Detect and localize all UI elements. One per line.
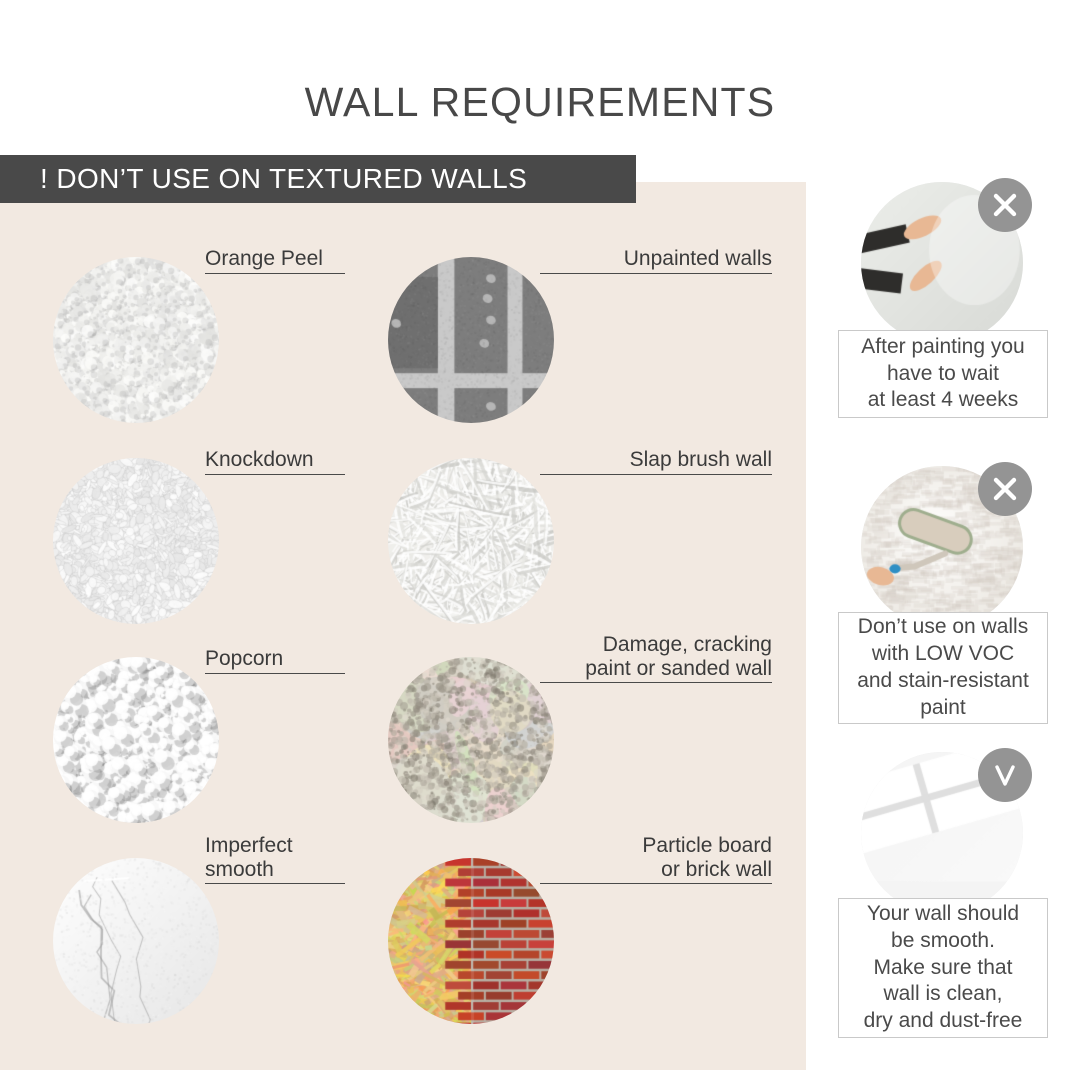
side-card-caption-box-wait-4-weeks: After painting you have to wait at least… — [838, 330, 1048, 418]
cross-icon — [978, 462, 1032, 516]
texture-label-slap-brush: Slap brush wall — [540, 448, 772, 475]
side-card-caption-smooth-wall: Your wall should be smooth. Make sure th… — [858, 901, 1029, 1035]
texture-label-knockdown: Knockdown — [205, 448, 345, 475]
cross-icon — [978, 178, 1032, 232]
side-card-caption-box-smooth-wall: Your wall should be smooth. Make sure th… — [838, 898, 1048, 1038]
texture-label-popcorn: Popcorn — [205, 647, 345, 674]
texture-label-particle-brick: Particle board or brick wall — [540, 834, 772, 884]
texture-swatch-knockdown — [53, 458, 219, 624]
texture-label-unpainted-walls: Unpainted walls — [540, 247, 772, 274]
texture-swatch-slap-brush — [388, 458, 554, 624]
texture-swatch-damage — [388, 657, 554, 823]
texture-label-damage: Damage, cracking paint or sanded wall — [540, 633, 772, 683]
side-card-caption-box-low-voc: Don’t use on walls with LOW VOC and stai… — [838, 612, 1048, 724]
texture-swatch-unpainted-walls — [388, 257, 554, 423]
texture-grid: Orange PeelUnpainted wallsKnockdownSlap … — [0, 182, 806, 1070]
side-card-caption-wait-4-weeks: After painting you have to wait at least… — [855, 334, 1030, 415]
side-card-caption-low-voc: Don’t use on walls with LOW VOC and stai… — [851, 614, 1035, 722]
texture-swatch-particle-brick — [388, 858, 554, 1024]
texture-swatch-imperfect — [53, 858, 219, 1024]
page-title: WALL REQUIREMENTS — [0, 79, 1080, 126]
texture-label-orange-peel: Orange Peel — [205, 247, 345, 274]
texture-label-imperfect: Imperfect smooth — [205, 834, 345, 884]
check-icon — [978, 748, 1032, 802]
infographic-root: WALL REQUIREMENTS ! DON’T USE ON TEXTURE… — [0, 0, 1080, 1080]
texture-swatch-popcorn — [53, 657, 219, 823]
texture-swatch-orange-peel — [53, 257, 219, 423]
